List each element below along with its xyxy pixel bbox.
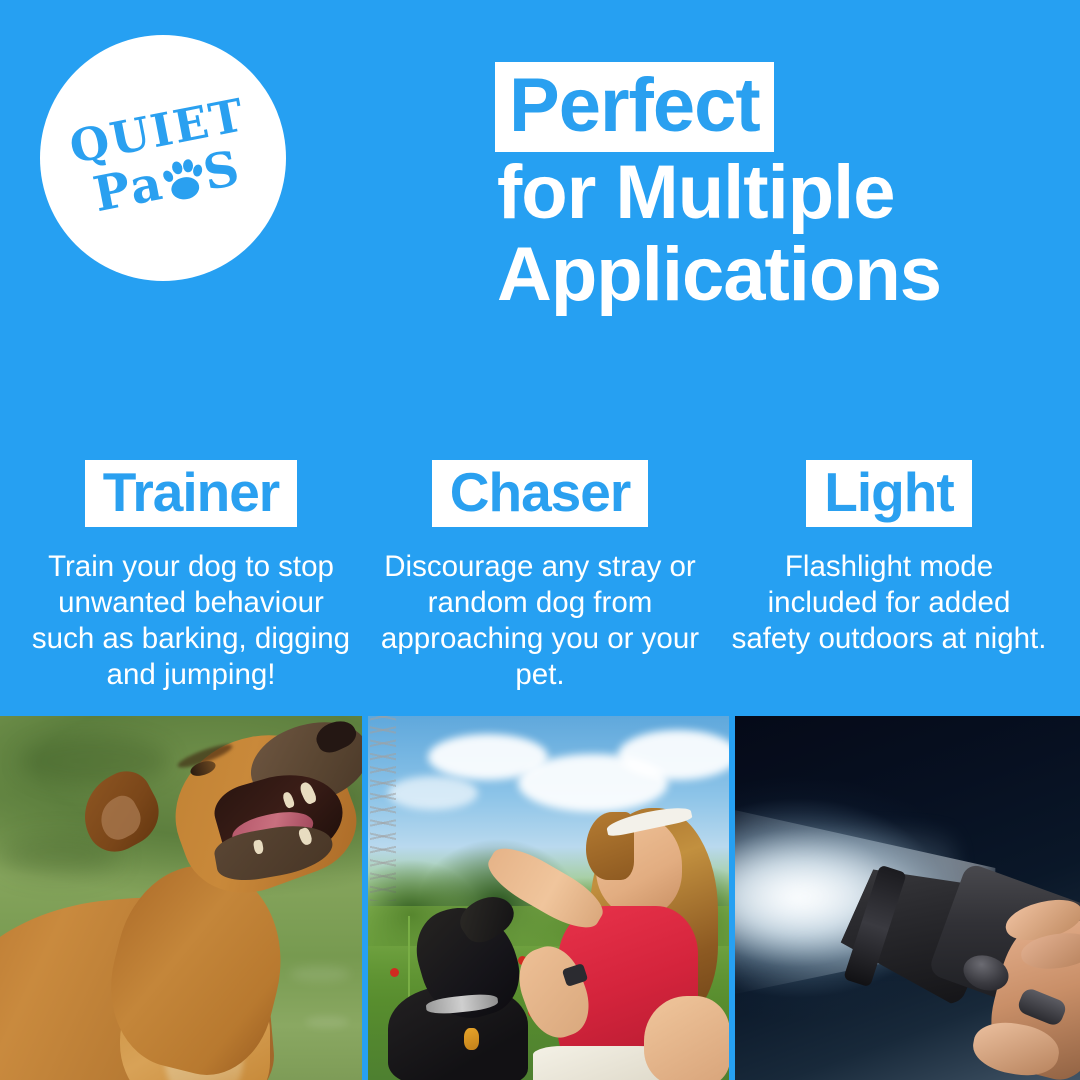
- feature-title-box-trainer: Trainer: [85, 460, 297, 527]
- feature-columns: Trainer Train your dog to stop unwanted …: [0, 460, 1080, 693]
- photo-barking-dog: [0, 716, 362, 1080]
- headline-line1: Perfect: [509, 70, 760, 142]
- headline-line1-highlight-box: Perfect: [495, 62, 774, 152]
- photo-flashlight-in-hand: [735, 716, 1080, 1080]
- feature-body-trainer: Train your dog to stop unwanted behaviou…: [26, 549, 356, 693]
- headline-line2: for Multiple: [495, 152, 1040, 234]
- feature-title-trainer: Trainer: [103, 465, 279, 520]
- brand-name-line2-suffix: S: [200, 145, 245, 198]
- paw-print-icon: [160, 155, 207, 204]
- black-dog-tag: [464, 1028, 479, 1050]
- brand-logo-text: QUIET Pa S: [67, 93, 260, 222]
- feature-column-light: Light Flashlight mode included for added…: [724, 460, 1054, 693]
- feature-title-box-chaser: Chaser: [432, 460, 648, 527]
- brand-name-line2-prefix: Pa: [90, 160, 168, 220]
- photo-strip: [0, 716, 1080, 1080]
- photo-woman-training-dog: [368, 716, 730, 1080]
- woman-knee: [644, 996, 730, 1080]
- feature-body-chaser: Discourage any stray or random dog from …: [375, 549, 705, 693]
- feature-title-light: Light: [824, 465, 953, 520]
- feature-title-chaser: Chaser: [450, 465, 630, 520]
- feature-column-chaser: Chaser Discourage any stray or random do…: [375, 460, 705, 693]
- headline-line3: Applications: [495, 234, 1040, 316]
- headline-block: Perfect for Multiple Applications: [495, 62, 1040, 316]
- headline-line1-row: Perfect: [495, 62, 1040, 152]
- brand-logo-badge: QUIET Pa S: [40, 35, 286, 281]
- feature-column-trainer: Trainer Train your dog to stop unwanted …: [26, 460, 356, 693]
- feature-body-light: Flashlight mode included for added safet…: [724, 549, 1054, 657]
- feature-title-box-light: Light: [806, 460, 971, 527]
